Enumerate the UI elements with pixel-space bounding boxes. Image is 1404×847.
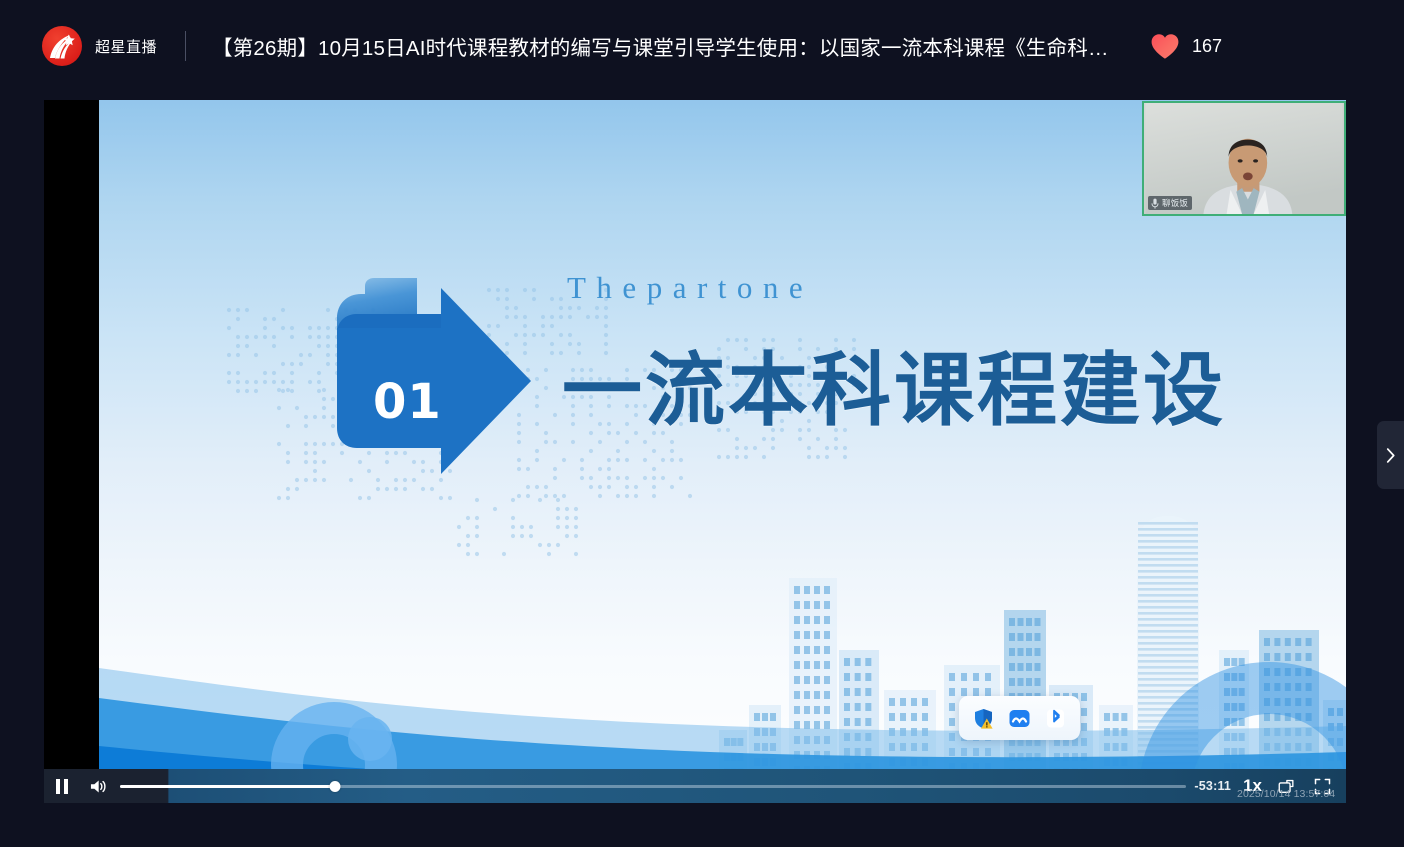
volume-on-icon [89,778,108,795]
logo-swoosh-glyph [48,34,76,60]
chaoxing-logo-icon [42,26,82,66]
blue-wave-decoration [99,540,1346,803]
absolute-timestamp: 2025/10/14 13:57:04 [1237,788,1335,800]
video-control-bar: -53:11 1x 2025/10/14 13:57:04 [44,769,1346,803]
section-number: 01 [373,374,442,430]
speaker-name-badge: 聊饭饭 [1148,196,1192,210]
slide-eyebrow: Thepartone [567,270,813,306]
bluetooth-icon[interactable] [1045,708,1066,729]
round-tower [1137,516,1199,803]
like-count: 167 [1192,36,1222,57]
speaker-webcam-pip[interactable]: 聊饭饭 [1142,101,1346,216]
pause-icon [56,779,68,794]
small-circle-decoration [345,714,395,764]
chevron-right-icon [1385,447,1396,464]
speaker-name: 聊饭饭 [1162,197,1188,209]
heart-icon[interactable] [1150,33,1180,60]
time-remaining: -53:11 [1194,779,1231,793]
microphone-icon [1151,198,1159,209]
live-player-page: 超星直播 【第26期】10月15日AI时代课程教材的编写与课堂引导学生使用：以国… [0,0,1404,847]
header-divider [185,31,186,61]
live-title: 【第26期】10月15日AI时代课程教材的编写与课堂引导学生使用：以国家一流本科… [212,31,1112,61]
progress-filled [120,785,335,788]
page-header: 超星直播 【第26期】10月15日AI时代课程教材的编写与课堂引导学生使用：以国… [0,0,1404,92]
pause-button[interactable] [44,769,80,803]
app-blue-icon[interactable] [1009,708,1030,729]
city-skyline-decoration [719,500,1346,803]
security-shield-warning-icon[interactable] [973,708,994,729]
section-arrow-badge: 01 [321,278,543,493]
video-player-surface[interactable]: 01 Thepartone 一流本科课程建设 [44,100,1346,803]
slide-title: 一流本科课程建设 [562,326,1226,442]
brand-logo-group[interactable]: 超星直播 [42,26,157,66]
progress-bar[interactable] [120,769,1186,803]
progress-handle[interactable] [330,781,341,792]
side-panel-toggle[interactable] [1377,421,1404,489]
like-counter-group[interactable]: 167 [1150,33,1222,60]
system-tray-popup[interactable] [959,696,1080,740]
brand-name: 超星直播 [95,36,157,57]
volume-button[interactable] [80,769,116,803]
